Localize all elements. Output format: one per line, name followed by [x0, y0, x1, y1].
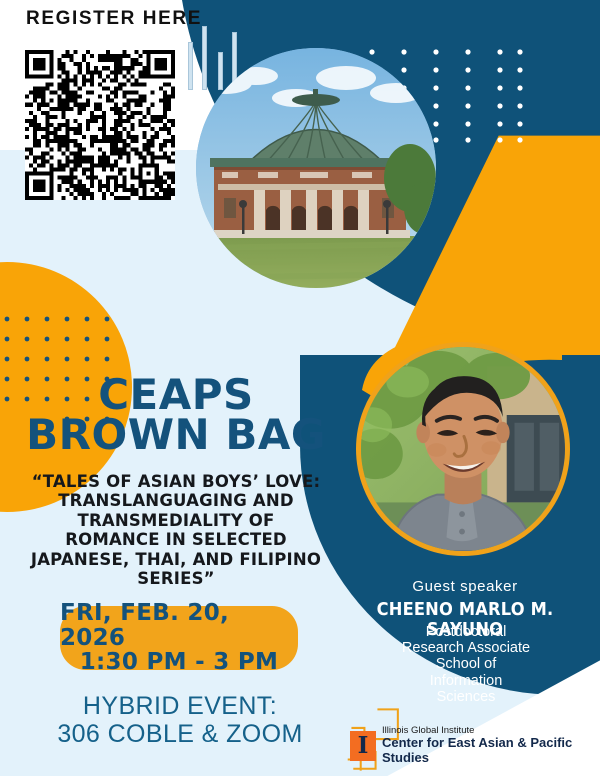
auditorium-photo — [196, 48, 436, 288]
qr-code[interactable] — [25, 50, 175, 200]
talk-subtitle: “TALES OF ASIAN BOYS’ LOVE: TRANSLANGUAG… — [14, 472, 338, 589]
page-title: CEAPS BROWN BAG — [18, 375, 334, 456]
event-date: FRI, FEB. 20, 2026 — [60, 601, 298, 651]
logo-center: Center for East Asian & Pacific Studies — [382, 736, 600, 766]
affiliation-line: Research Associate — [366, 640, 566, 656]
location-line-2: 306 COBLE & ZOOM — [30, 720, 330, 748]
subtitle-line: TRANSMEDIALITY OF — [14, 511, 338, 530]
subtitle-line: JAPANESE, THAI, AND FILIPINO — [14, 550, 338, 569]
speaker-affiliation: Postdoctoral Research Associate School o… — [366, 624, 566, 705]
date-time-badge: FRI, FEB. 20, 2026 1:30 PM - 3 PM — [60, 606, 298, 670]
speaker-photo — [356, 342, 570, 556]
logo-text: Illinois Global Institute Center for Eas… — [382, 726, 600, 766]
subtitle-line: TRANSLANGUAGING AND — [14, 491, 338, 510]
event-poster: REGISTER HERE CEAPS BROWN BAG “TALES OF … — [0, 0, 600, 776]
event-location: HYBRID EVENT: 306 COBLE & ZOOM — [30, 692, 330, 748]
illinois-block-i-icon: I — [350, 731, 376, 761]
affiliation-line: Information — [366, 673, 566, 689]
register-here-label: REGISTER HERE — [26, 8, 202, 30]
affiliation-line: Sciences — [366, 689, 566, 705]
location-line-1: HYBRID EVENT: — [30, 692, 330, 720]
title-line-2: BROWN BAG — [18, 415, 334, 455]
event-time: 1:30 PM - 3 PM — [80, 650, 278, 675]
guest-speaker-label: Guest speaker — [360, 578, 570, 595]
logo-letter: I — [358, 732, 369, 759]
subtitle-line: SERIES” — [14, 569, 338, 588]
affiliation-line: School of — [366, 656, 566, 672]
subtitle-line: ROMANCE IN SELECTED — [14, 530, 338, 549]
illinois-logo: I Illinois Global Institute Center for E… — [350, 726, 600, 766]
title-line-1: CEAPS — [18, 375, 334, 415]
qr-code-image — [25, 50, 175, 200]
affiliation-line: Postdoctoral — [366, 624, 566, 640]
subtitle-line: “TALES OF ASIAN BOYS’ LOVE: — [14, 472, 338, 491]
